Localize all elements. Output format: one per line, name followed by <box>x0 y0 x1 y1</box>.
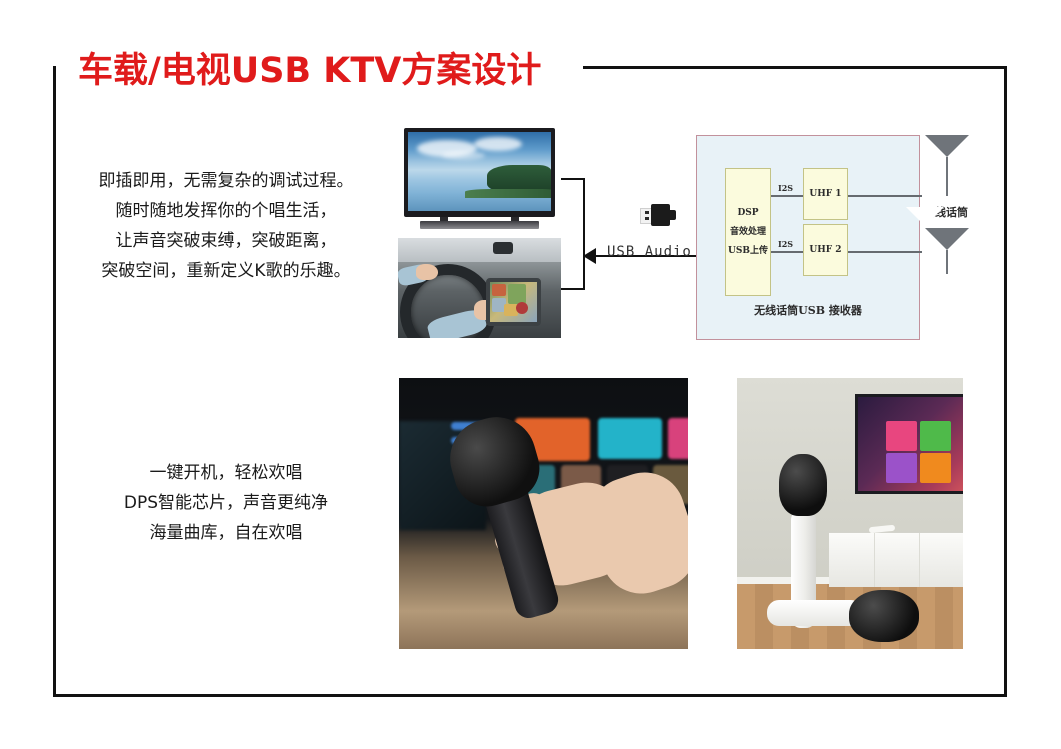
antenna-stem <box>946 250 948 274</box>
car-windshield <box>398 238 561 264</box>
copy-line: 让声音突破束缚，突破距离， <box>66 226 386 256</box>
i2s-line-2 <box>771 251 803 253</box>
car-interior-photo <box>398 238 561 338</box>
dsp-block: DSP 音效处理 USB上传 <box>725 168 771 296</box>
usb-audio-label: USB Audio <box>607 244 692 260</box>
car-rearview-mirror <box>493 242 513 254</box>
uhf1-antenna-line <box>848 195 922 197</box>
uhf2-antenna-line <box>848 251 922 253</box>
wire-vertical-bus <box>583 178 585 290</box>
antenna-triangle <box>925 135 969 157</box>
antenna-icon-2 <box>925 228 969 250</box>
antenna-icon-1 <box>925 135 969 157</box>
copy-line: 一键开机，轻松欢唱 <box>66 458 386 488</box>
wire-from-car <box>561 288 585 290</box>
dsp-label-audio: 音效处理 <box>730 223 766 242</box>
feature-copy-bottom: 一键开机，轻松欢唱 DPS智能芯片，声音更纯净 海量曲库，自在欢唱 <box>66 458 386 548</box>
i2s-label-1: I2S <box>778 183 793 193</box>
tv-screen-image <box>408 132 551 211</box>
frame-left-edge <box>53 66 56 697</box>
tv-cabinet <box>829 532 963 587</box>
i2s-line-1 <box>771 195 803 197</box>
diagram-caption: 无线话筒USB 接收器 <box>697 302 919 318</box>
copy-line: 突破空间，重新定义K歌的乐趣。 <box>66 256 386 286</box>
dsp-label-upload: USB上传 <box>728 242 768 261</box>
tv-base <box>420 221 539 229</box>
copy-line: 即插即用，无需复杂的调试过程。 <box>66 166 386 196</box>
dsp-label-main: DSP <box>737 204 758 223</box>
tv-app-tile-4 <box>920 453 951 483</box>
usb-audio-arrow-icon <box>583 248 596 264</box>
i2s-label-2: I2S <box>778 239 793 249</box>
frame-top-edge <box>583 66 1007 69</box>
usb-connector-icon <box>640 203 676 227</box>
tv-bezel <box>404 128 555 217</box>
antenna-stem <box>946 157 948 196</box>
copy-line: DPS智能芯片，声音更纯净 <box>66 488 386 518</box>
frame-right-edge <box>1004 66 1007 697</box>
microphone-lying-foam-head <box>849 590 919 642</box>
receiver-block-diagram: DSP 音效处理 USB上传 UHF 1 UHF 2 I2S I2S 无线话筒U… <box>696 135 920 340</box>
microphone-standing-foam-head <box>779 454 827 516</box>
uhf2-block: UHF 2 <box>803 224 848 276</box>
tv-app-tile-1 <box>886 421 917 451</box>
usb-cable-tail <box>669 210 676 220</box>
antenna-triangle <box>925 228 969 250</box>
copy-line: 海量曲库，自在欢唱 <box>66 518 386 548</box>
feature-copy-top: 即插即用，无需复杂的调试过程。 随时随地发挥你的个唱生活， 让声音突破束缚，突破… <box>66 166 386 286</box>
tv-app-tile-2 <box>920 421 951 451</box>
frame-bottom-edge <box>53 694 1007 697</box>
usb-shell <box>651 204 670 226</box>
driver-hand-wheel <box>416 264 438 280</box>
uhf1-block: UHF 1 <box>803 168 848 220</box>
microphones-living-room-photo <box>737 378 963 649</box>
car-center-display <box>486 278 541 326</box>
tv-product-photo <box>398 124 561 232</box>
wire-from-tv <box>561 178 585 180</box>
microphone-in-car-photo <box>399 378 688 649</box>
copy-line: 随时随地发挥你的个唱生活， <box>66 196 386 226</box>
wall-tv-screen <box>855 394 963 494</box>
tv-app-tile-3 <box>886 453 917 483</box>
